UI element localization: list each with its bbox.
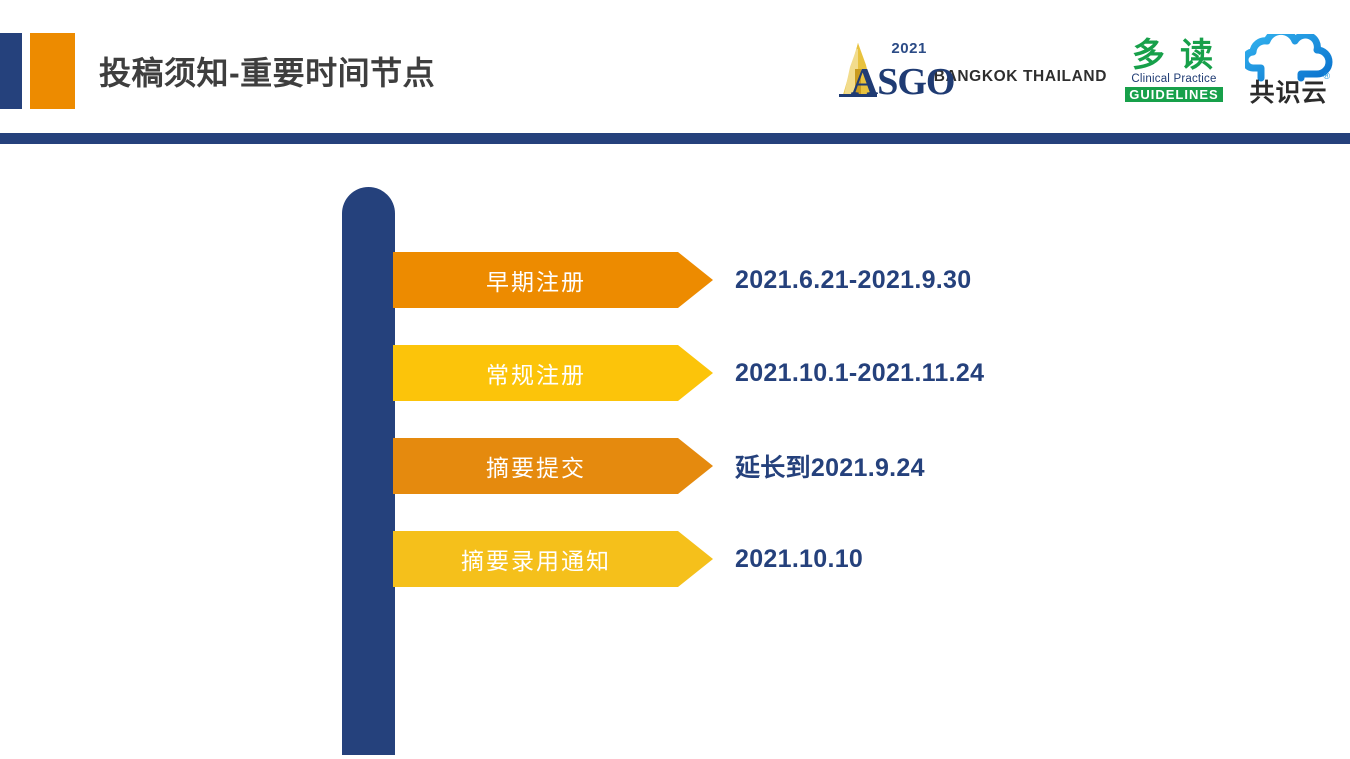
asgo-year: 2021 (891, 40, 926, 57)
signpost-pole (342, 187, 395, 755)
page-title: 投稿须知-重要时间节点 (99, 50, 435, 96)
duodu-guidelines-logo: 多 读 Clinical Practice GUIDELINES (1125, 38, 1223, 103)
timeline-row: 摘要提交 延长到2021.9.24 (393, 438, 713, 494)
cloud-icon (1245, 34, 1333, 82)
signpost-arrow-label: 早期注册 (393, 263, 679, 297)
timeline-date: 2021.6.21-2021.9.30 (735, 252, 971, 308)
signpost-arrow[interactable]: 早期注册 (393, 252, 713, 308)
guidelines-badge: GUIDELINES (1125, 87, 1223, 102)
timeline-date: 2021.10.10 (735, 531, 863, 587)
logo-group: ASGO 2021 BANGKOK THAILAND 多 读 Clinical … (833, 22, 1336, 118)
slide-header: 投稿须知-重要时间节点 ASGO 2021 BANGKOK THAILAND (0, 0, 1350, 133)
signpost-arrow[interactable]: 摘要录用通知 (393, 531, 713, 587)
header-divider-bar (0, 133, 1350, 144)
timeline-date: 延长到2021.9.24 (735, 438, 925, 494)
timeline-date: 2021.10.1-2021.11.24 (735, 345, 984, 401)
asgo-mark: ASGO 2021 (833, 41, 925, 99)
slide-root: 投稿须知-重要时间节点 ASGO 2021 BANGKOK THAILAND (0, 0, 1350, 759)
gongshiyun-chinese-name: 共识云 (1241, 81, 1336, 106)
header-accent-orange-bar (30, 33, 75, 109)
asgo-wordmark: ASGO (851, 63, 955, 101)
gongshiyun-logo: ® 共识云 (1241, 34, 1336, 106)
timeline-row: 摘要录用通知 2021.10.10 (393, 531, 713, 587)
registered-mark: ® (1323, 72, 1330, 81)
duodu-chinese-name: 多 读 (1125, 38, 1223, 72)
signpost-arrow-label: 摘要提交 (393, 449, 679, 483)
timeline-row: 早期注册 2021.6.21-2021.9.30 (393, 252, 713, 308)
duodu-english-name: Clinical Practice (1125, 74, 1223, 86)
signpost-arrow[interactable]: 摘要提交 (393, 438, 713, 494)
signpost-arrow-label: 摘要录用通知 (393, 542, 679, 576)
header-accent-blue-bar (0, 33, 22, 109)
signpost-arrow-label: 常规注册 (393, 356, 679, 390)
asgo-city-label: BANGKOK THAILAND (934, 55, 1107, 86)
asgo-logo: ASGO 2021 BANGKOK THAILAND (833, 40, 1107, 100)
timeline-row: 常规注册 2021.10.1-2021.11.24 (393, 345, 713, 401)
signpost-arrow[interactable]: 常规注册 (393, 345, 713, 401)
